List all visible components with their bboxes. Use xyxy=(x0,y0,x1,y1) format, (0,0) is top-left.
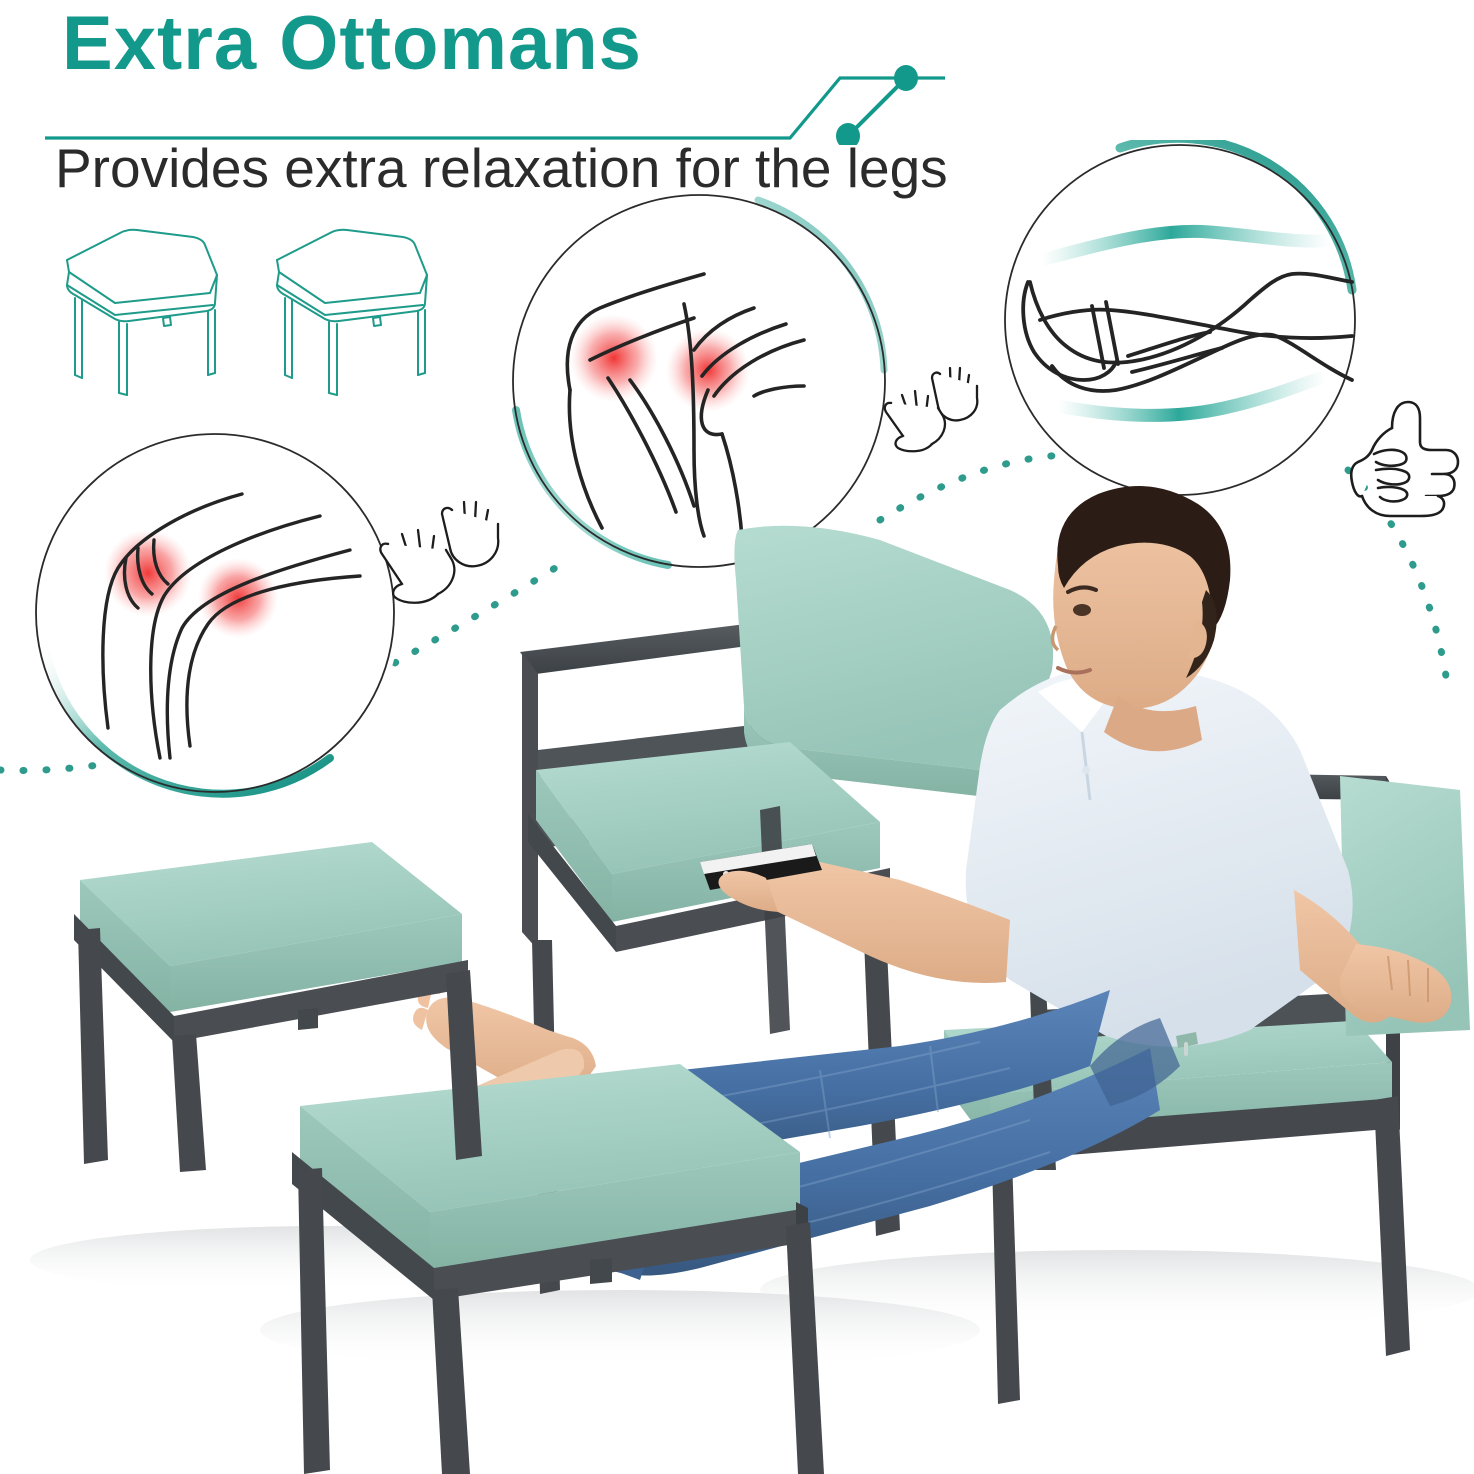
product-feature-graphic: Extra Ottomans Provides extra relaxation… xyxy=(0,0,1474,1474)
open-hands-stop-icon xyxy=(880,358,990,466)
product-photo-scene xyxy=(0,470,1474,1474)
two-ottomans-line-drawing-icon xyxy=(45,215,465,400)
circuit-line-deco-icon xyxy=(40,60,950,145)
relaxed-extended-leg-callout xyxy=(1000,140,1360,500)
